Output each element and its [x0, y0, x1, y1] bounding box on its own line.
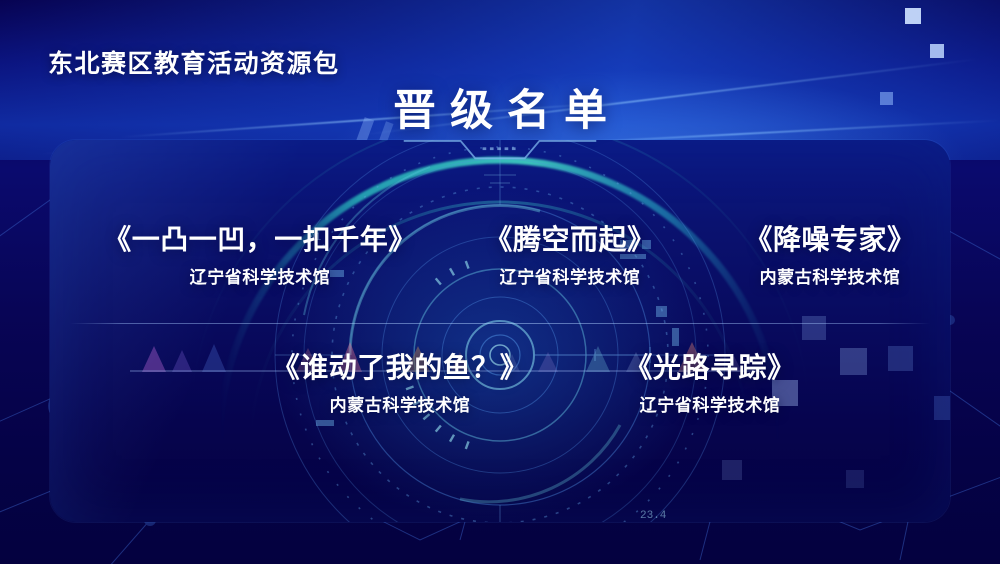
panel-top-notch — [395, 140, 605, 162]
entry-organization: 辽宁省科学技术馆 — [90, 268, 430, 288]
list-item: 《一凸一凹，一扣千年》 辽宁省科学技术馆 — [90, 222, 430, 288]
entry-title: 《一凸一凹，一扣千年》 — [90, 222, 430, 257]
page-title: 晋级名单 — [0, 88, 1000, 135]
entry-title: 《光路寻踪》 — [580, 350, 840, 385]
teal-arc-graphic — [180, 140, 820, 522]
entry-organization: 辽宁省科学技术馆 — [580, 396, 840, 416]
entry-title: 《降噪专家》 — [710, 222, 950, 257]
hud-radar-graphic: 23.4 01 — [220, 140, 780, 522]
entry-title: 《腾空而起》 — [440, 222, 700, 257]
entry-organization: 辽宁省科学技术馆 — [440, 268, 700, 288]
row-divider — [70, 323, 930, 324]
header-banner-band — [0, 0, 1000, 160]
content-panel: 23.4 01 — [50, 140, 950, 522]
decor-square — [802, 316, 826, 340]
list-item: 《光路寻踪》 辽宁省科学技术馆 — [580, 350, 840, 416]
decor-square — [840, 348, 867, 375]
svg-text:23.4: 23.4 — [640, 510, 667, 522]
list-item: 《腾空而起》 辽宁省科学技术馆 — [440, 222, 700, 288]
decor-square — [930, 44, 944, 58]
decor-square — [905, 8, 921, 24]
entry-title: 《谁动了我的鱼？》 — [250, 350, 550, 385]
slide-canvas: 23.4 01 — [0, 0, 1000, 564]
decor-square — [934, 396, 950, 420]
decor-square — [888, 346, 913, 371]
entry-organization: 内蒙古科学技术馆 — [710, 268, 950, 288]
page-kicker: 东北赛区教育活动资源包 — [48, 52, 340, 77]
list-item: 《降噪专家》 内蒙古科学技术馆 — [710, 222, 950, 288]
entry-organization: 内蒙古科学技术馆 — [250, 396, 550, 416]
list-item: 《谁动了我的鱼？》 内蒙古科学技术馆 — [250, 350, 550, 416]
decor-square — [722, 460, 742, 480]
decor-square — [846, 470, 864, 488]
